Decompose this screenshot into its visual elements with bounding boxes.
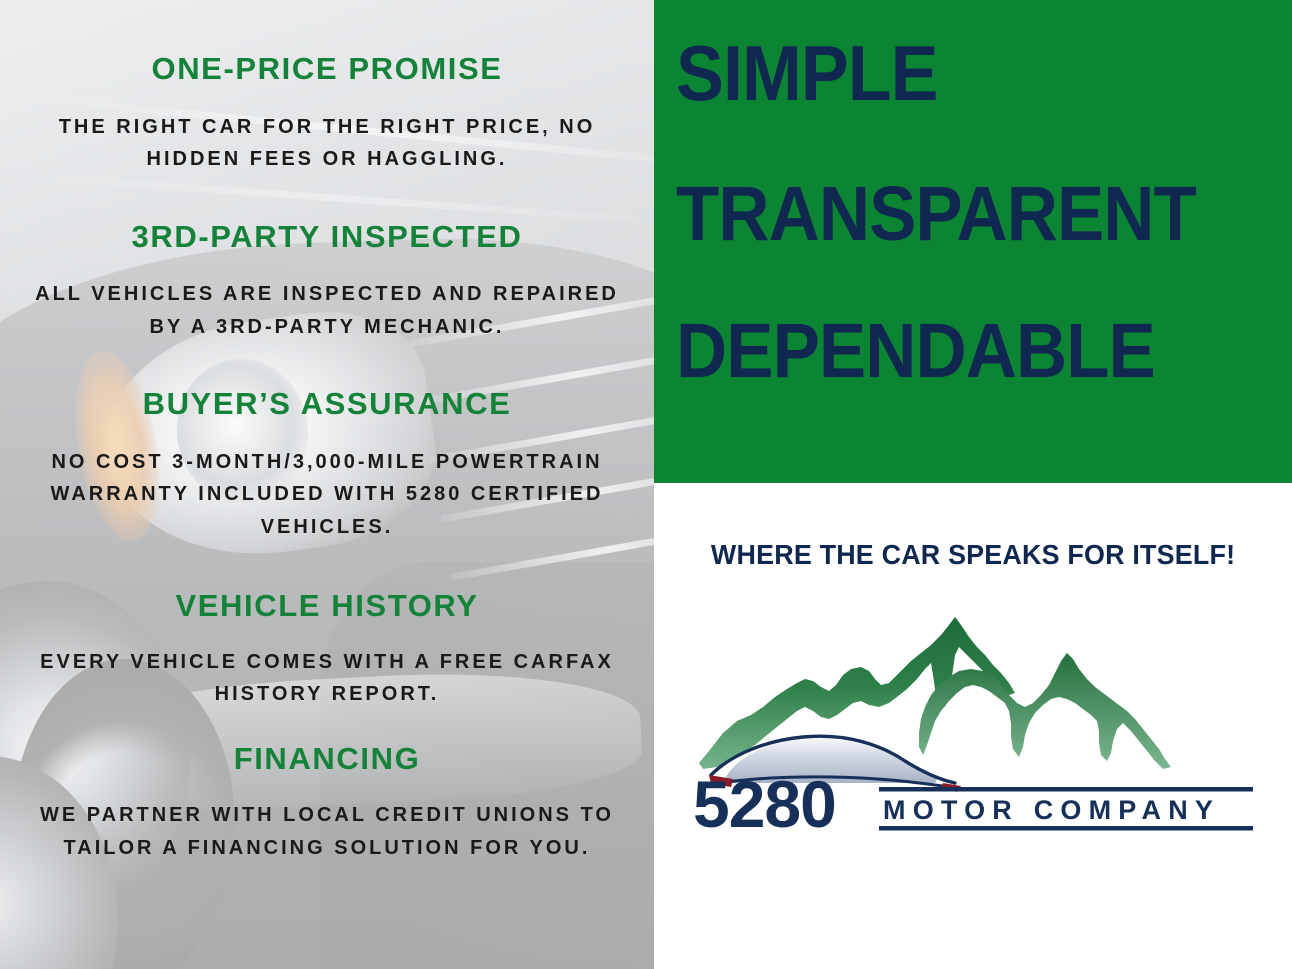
feature-body: EVERY VEHICLE COMES WITH A FREE CARFAX H… (14, 646, 640, 711)
feature-body: NO COST 3-MONTH/3,000-MILE POWERTRAIN WA… (14, 446, 640, 543)
feature-3rd-party-inspected: 3RD-PARTY INSPECTED ALL VEHICLES ARE INS… (14, 220, 640, 344)
feature-title: 3RD-PARTY INSPECTED (14, 220, 640, 255)
hero-line-transparent: TRANSPARENT (676, 176, 1219, 253)
brand-number-text: 5280 (693, 771, 836, 837)
hero-line-simple: SIMPLE (676, 34, 1219, 112)
brand-subtitle-text: MOTOR COMPANY (883, 795, 1220, 825)
brand-panel: SIMPLE TRANSPARENT DEPENDABLE WHERE THE … (654, 0, 1292, 969)
feature-title: VEHICLE HISTORY (14, 589, 640, 624)
brand-wordmark: 5280 MOTOR COMPANY (693, 771, 1253, 837)
features-list: ONE-PRICE PROMISE THE RIGHT CAR FOR THE … (0, 0, 654, 969)
feature-body: ALL VEHICLES ARE INSPECTED AND REPAIRED … (14, 278, 640, 343)
marketing-poster: ONE-PRICE PROMISE THE RIGHT CAR FOR THE … (0, 0, 1292, 969)
feature-title: FINANCING (14, 742, 640, 777)
hero-block: SIMPLE TRANSPARENT DEPENDABLE (654, 0, 1292, 483)
logo-block: WHERE THE CAR SPEAKS FOR ITSELF! (654, 483, 1292, 969)
company-logo: 5280 MOTOR COMPANY 5280 MOTOR COMPANY (688, 611, 1258, 835)
feature-body: WE PARTNER WITH LOCAL CREDIT UNIONS TO T… (14, 799, 640, 864)
feature-buyers-assurance: BUYER’S ASSURANCE NO COST 3-MONTH/3,000-… (14, 387, 640, 543)
feature-body: THE RIGHT CAR FOR THE RIGHT PRICE, NO HI… (14, 111, 640, 176)
features-panel: ONE-PRICE PROMISE THE RIGHT CAR FOR THE … (0, 0, 654, 969)
feature-financing: FINANCING WE PARTNER WITH LOCAL CREDIT U… (14, 742, 640, 864)
tagline: WHERE THE CAR SPEAKS FOR ITSELF! (711, 539, 1235, 571)
feature-title: ONE-PRICE PROMISE (14, 52, 640, 87)
feature-one-price-promise: ONE-PRICE PROMISE THE RIGHT CAR FOR THE … (14, 52, 640, 176)
feature-vehicle-history: VEHICLE HISTORY EVERY VEHICLE COMES WITH… (14, 589, 640, 711)
hero-line-dependable: DEPENDABLE (676, 313, 1219, 390)
feature-title: BUYER’S ASSURANCE (14, 387, 640, 422)
